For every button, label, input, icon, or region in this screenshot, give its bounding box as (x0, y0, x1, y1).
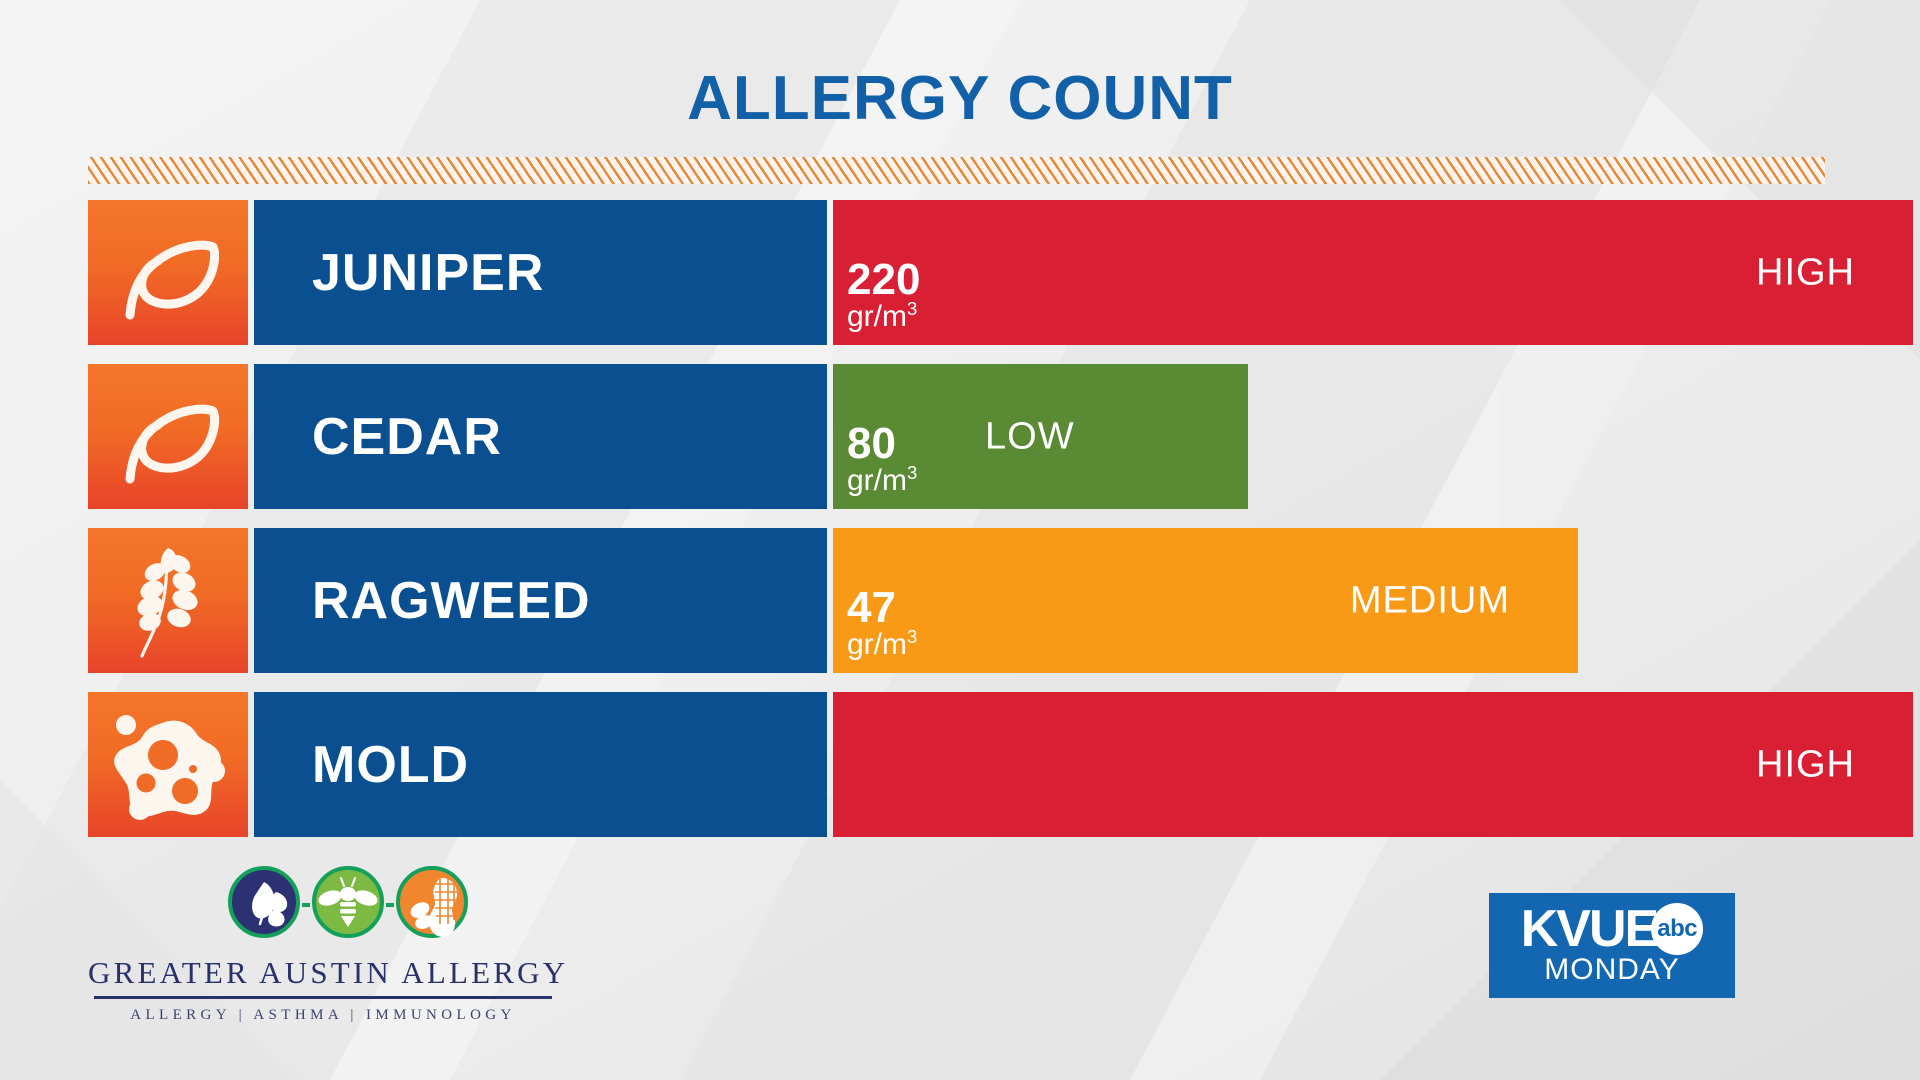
allergen-label-panel: MOLD (254, 692, 827, 837)
value-number: 80 (847, 424, 917, 464)
station-callsign: KVUE (1521, 903, 1657, 955)
allergen-icon-tile (88, 692, 248, 837)
sponsor-divider (94, 996, 552, 999)
allergen-icon-tile (88, 200, 248, 345)
allergen-icon-tile (88, 364, 248, 509)
mold-icon (110, 709, 226, 821)
station-logo[interactable]: KVUE abc MONDAY (1489, 893, 1735, 998)
allergen-icon-tile (88, 528, 248, 673)
level-bar: 80 gr/m3 LOW (833, 364, 1248, 509)
allergen-label-panel: CEDAR (254, 364, 827, 509)
leaf-icon (114, 223, 222, 323)
station-day-label: MONDAY (1489, 953, 1735, 987)
station-callsign-row: KVUE abc (1489, 893, 1735, 955)
table-row[interactable]: JUNIPER 220 gr/m3 HIGH (88, 200, 1825, 345)
value-readout: 80 gr/m3 (847, 424, 917, 495)
hatched-divider (88, 157, 1825, 184)
table-row[interactable]: CEDAR 80 gr/m3 LOW (88, 364, 1825, 509)
level-label: LOW (985, 415, 1075, 458)
leaf-badge-icon (224, 862, 304, 947)
table-row[interactable]: RAGWEED 47 gr/m3 MEDIUM (88, 528, 1825, 673)
allergen-rows: JUNIPER 220 gr/m3 HIGH CEDAR (88, 200, 1825, 856)
level-bar: 220 gr/m3 HIGH (833, 200, 1913, 345)
abc-network-label: abc (1657, 915, 1697, 943)
peanut-badge-icon (392, 862, 472, 947)
sponsor-subtitle: ALLERGY | ASTHMA | IMMUNOLOGY (88, 1007, 558, 1024)
page-title: ALLERGY COUNT (0, 68, 1920, 130)
sponsor-badge-group (138, 862, 558, 947)
allergen-name: RAGWEED (254, 575, 591, 627)
allergen-name: CEDAR (254, 411, 502, 463)
level-bar: HIGH (833, 692, 1913, 837)
sponsor-name: GREATER AUSTIN ALLERGY (88, 955, 558, 991)
value-readout: 220 gr/m3 (847, 260, 920, 331)
level-label: HIGH (1756, 251, 1855, 294)
allergen-label-panel: RAGWEED (254, 528, 827, 673)
sponsor-logo[interactable]: GREATER AUSTIN ALLERGY ALLERGY | ASTHMA … (88, 862, 558, 1024)
value-number: 47 (847, 588, 917, 628)
level-bar: 47 gr/m3 MEDIUM (833, 528, 1578, 673)
level-label: HIGH (1756, 743, 1855, 786)
value-number: 220 (847, 260, 920, 300)
value-unit: gr/m3 (847, 464, 917, 495)
bee-badge-icon (308, 862, 388, 947)
leaf-icon (114, 387, 222, 487)
ragweed-icon (122, 542, 214, 660)
allergen-name: JUNIPER (254, 247, 544, 299)
abc-network-icon: abc (1651, 903, 1703, 955)
allergen-name: MOLD (254, 739, 469, 791)
level-label: MEDIUM (1350, 579, 1510, 622)
table-row[interactable]: MOLD HIGH (88, 692, 1825, 837)
allergen-label-panel: JUNIPER (254, 200, 827, 345)
value-readout: 47 gr/m3 (847, 588, 917, 659)
value-unit: gr/m3 (847, 628, 917, 659)
value-unit: gr/m3 (847, 300, 920, 331)
